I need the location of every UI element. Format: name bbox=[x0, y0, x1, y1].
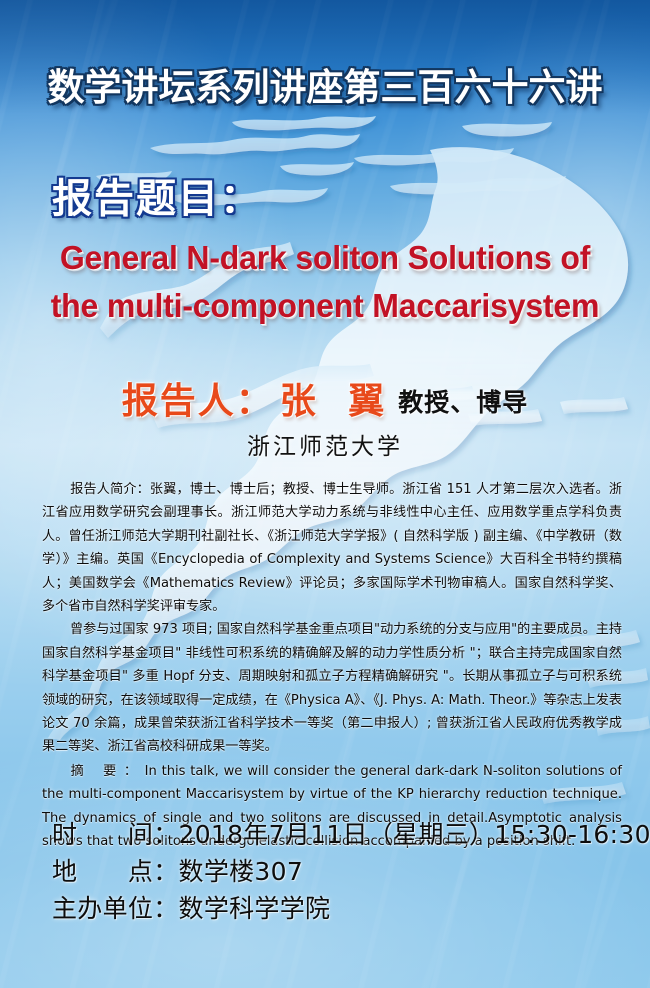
speaker-name: 张 翼 bbox=[280, 381, 395, 422]
event-place-row: 地 点：数学楼307 bbox=[52, 853, 650, 890]
series-title: 数学讲坛系列讲座第三百六十六讲 bbox=[0, 57, 650, 111]
topic-label: 报告题目： bbox=[52, 166, 262, 224]
event-organizer-value: 数学科学学院 bbox=[179, 894, 331, 923]
event-time-row: 时 间：2018年7月11日（星期三）15:30-16:30 bbox=[52, 816, 650, 853]
bio-paragraph-1: 报告人简介：张翼，博士、博士后；教授、博士生导师。浙江省 151 人才第二层次入… bbox=[42, 478, 622, 618]
bio-paragraph-1-text: 报告人简介：张翼，博士、博士后；教授、博士生导师。浙江省 151 人才第二层次入… bbox=[42, 482, 622, 614]
event-details: 时 间：2018年7月11日（星期三）15:30-16:30 地 点：数学楼30… bbox=[52, 816, 650, 927]
event-time-value: 2018年7月11日（星期三）15:30-16:30 bbox=[179, 820, 650, 849]
body-text-block: 报告人简介：张翼，博士、博士后；教授、博士生导师。浙江省 151 人才第二层次入… bbox=[42, 478, 622, 854]
event-time-label: 时 间： bbox=[52, 816, 179, 853]
event-organizer-label: 主办单位： bbox=[52, 890, 179, 927]
speaker-row: 报告人：张 翼教授、博导 bbox=[0, 372, 650, 424]
speaker-rank: 教授、博导 bbox=[398, 388, 528, 417]
event-organizer-row: 主办单位：数学科学学院 bbox=[52, 890, 650, 927]
speaker-affiliation: 浙江师范大学 bbox=[0, 427, 650, 461]
talk-title-line-1: General N-dark soliton Solutions of bbox=[10, 234, 641, 282]
talk-title-line-2: the multi-component Maccarisystem bbox=[10, 282, 641, 330]
bio-paragraph-2-text: 曾参与过国家 973 项目; 国家自然科学基金重点项目"动力系统的分支与应用"的… bbox=[42, 622, 622, 754]
speaker-label: 报告人： bbox=[122, 381, 274, 422]
bio-paragraph-2: 曾参与过国家 973 项目; 国家自然科学基金重点项目"动力系统的分支与应用"的… bbox=[42, 618, 622, 758]
abstract-label: 摘 要： bbox=[70, 764, 145, 779]
event-place-label: 地 点： bbox=[52, 853, 179, 890]
conference-poster: 数学讲坛系列讲座第三百六十六讲 报告题目： General N-dark sol… bbox=[0, 0, 650, 988]
talk-title: General N-dark soliton Solutions of the … bbox=[10, 234, 641, 330]
event-place-value: 数学楼307 bbox=[179, 857, 304, 886]
